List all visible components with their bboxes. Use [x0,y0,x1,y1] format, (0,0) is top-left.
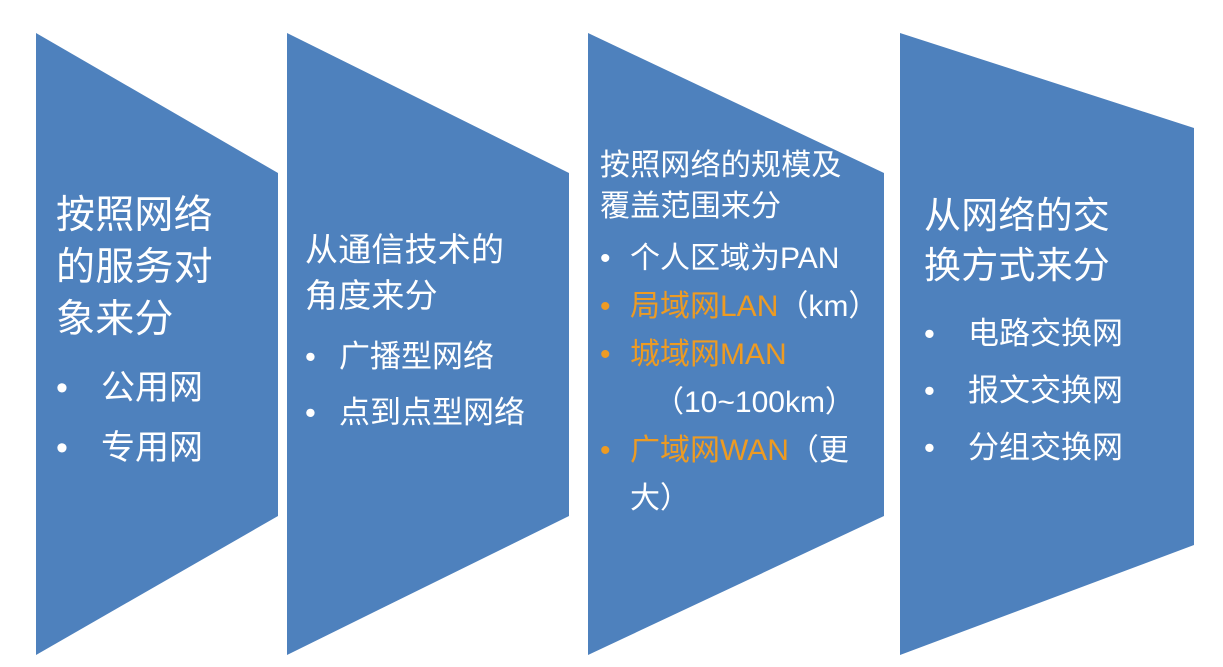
bullet-dot-icon: • [305,385,316,441]
list-item[interactable]: • 报文交换网 [924,362,1188,419]
panel-switching-method[interactable]: 从网络的交 换方式来分 • 电路交换网 • 报文交换网 • 分组交换网 [900,0,1194,667]
panel-network-service-target[interactable]: 按照网络 的服务对 象来分 • 公用网 • 专用网 [36,0,278,667]
panel-communication-technology[interactable]: 从通信技术的 角度来分 • 广播型网络 • 点到点型网络 [287,0,569,667]
list-item-label: 广播型网络 [339,329,563,385]
list-item-sublabel: （10~100km） [630,379,880,427]
bullet-dot-icon: • [600,283,611,331]
list-item-label: 点到点型网络 [339,385,563,441]
panel-title: 按照网络的规模及 覆盖范围来分 [600,145,880,227]
list-item-segment-accent: 城域网MAN [630,338,787,371]
bullet-dot-icon: • [924,419,935,476]
list-item[interactable]: • 公用网 [56,358,272,418]
list-item-segment: （km） [778,290,878,323]
list-item-segment: 个人区域为PAN [630,242,839,275]
list-item[interactable]: • 城域网MAN （10~100km） [600,331,880,427]
panel-title: 从网络的交 换方式来分 [924,191,1188,291]
bullet-dot-icon: • [56,358,68,418]
list-item[interactable]: • 个人区域为PAN [600,235,880,283]
list-item-label: 报文交换网 [968,362,1188,419]
panel-bullet-list: • 电路交换网 • 报文交换网 • 分组交换网 [924,305,1188,476]
list-item-label: 专用网 [101,418,272,478]
list-item-label: 城域网MAN [630,331,880,379]
list-item[interactable]: • 分组交换网 [924,419,1188,476]
bullet-dot-icon: • [600,331,611,379]
smartart-diagram: 按照网络 的服务对 象来分 • 公用网 • 专用网 从通信技术 [0,0,1223,667]
panel-bullet-list: • 广播型网络 • 点到点型网络 [305,329,563,441]
list-item[interactable]: • 局域网LAN（km） [600,283,880,331]
list-item-label: 广域网WAN（更大） [630,427,880,523]
panel-title: 按照网络 的服务对 象来分 [56,190,272,346]
list-item-segment-accent: 局域网LAN [630,290,778,323]
list-item-label: 分组交换网 [968,419,1188,476]
panel-bullet-list: • 公用网 • 专用网 [56,358,272,478]
list-item-label: 电路交换网 [968,305,1188,362]
list-item-label: 公用网 [101,358,272,418]
bullet-dot-icon: • [56,418,68,478]
list-item[interactable]: • 广播型网络 [305,329,563,385]
bullet-dot-icon: • [924,305,935,362]
panel-bullet-list: • 个人区域为PAN • 局域网LAN（km） • 城域网MAN （10~100… [600,235,880,523]
bullet-dot-icon: • [600,235,611,283]
panel-network-scale-coverage[interactable]: 按照网络的规模及 覆盖范围来分 • 个人区域为PAN • 局域网LAN（km） … [588,0,884,667]
list-item[interactable]: • 电路交换网 [924,305,1188,362]
list-item[interactable]: • 点到点型网络 [305,385,563,441]
bullet-dot-icon: • [600,427,611,475]
bullet-dot-icon: • [924,362,935,419]
bullet-dot-icon: • [305,329,316,385]
list-item-label: 个人区域为PAN [630,235,880,283]
list-item-label: 局域网LAN（km） [630,283,880,331]
list-item-segment-accent: 广域网WAN [630,434,789,467]
list-item[interactable]: • 专用网 [56,418,272,478]
list-item[interactable]: • 广域网WAN（更大） [600,427,880,523]
panel-title: 从通信技术的 角度来分 [305,227,563,319]
